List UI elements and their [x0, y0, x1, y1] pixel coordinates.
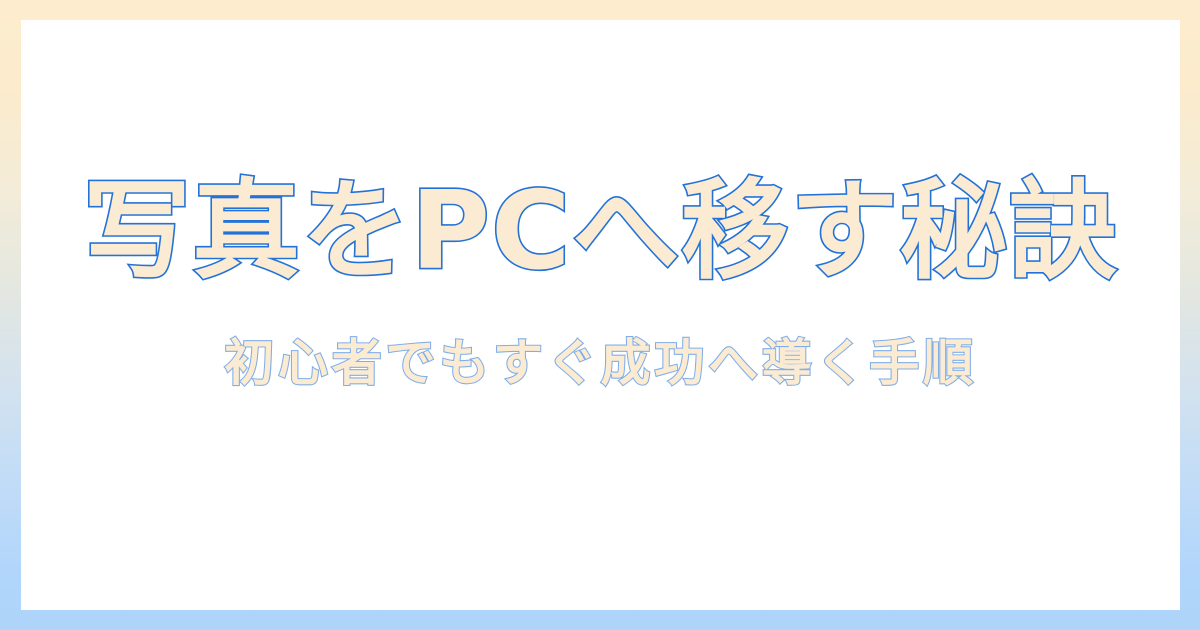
- page-title: 写真をPCへ移す秘訣: [83, 178, 1118, 286]
- title-container: 写真をPCへ移す秘訣: [21, 178, 1180, 286]
- subtitle-container: 初心者でもすぐ成功へ導く手順: [21, 338, 1180, 388]
- banner-content: 写真をPCへ移す秘訣 初心者でもすぐ成功へ導く手順: [21, 20, 1180, 610]
- page-subtitle: 初心者でもすぐ成功へ導く手順: [224, 338, 977, 388]
- title-card-banner: 写真をPCへ移す秘訣 初心者でもすぐ成功へ導く手順: [0, 0, 1200, 630]
